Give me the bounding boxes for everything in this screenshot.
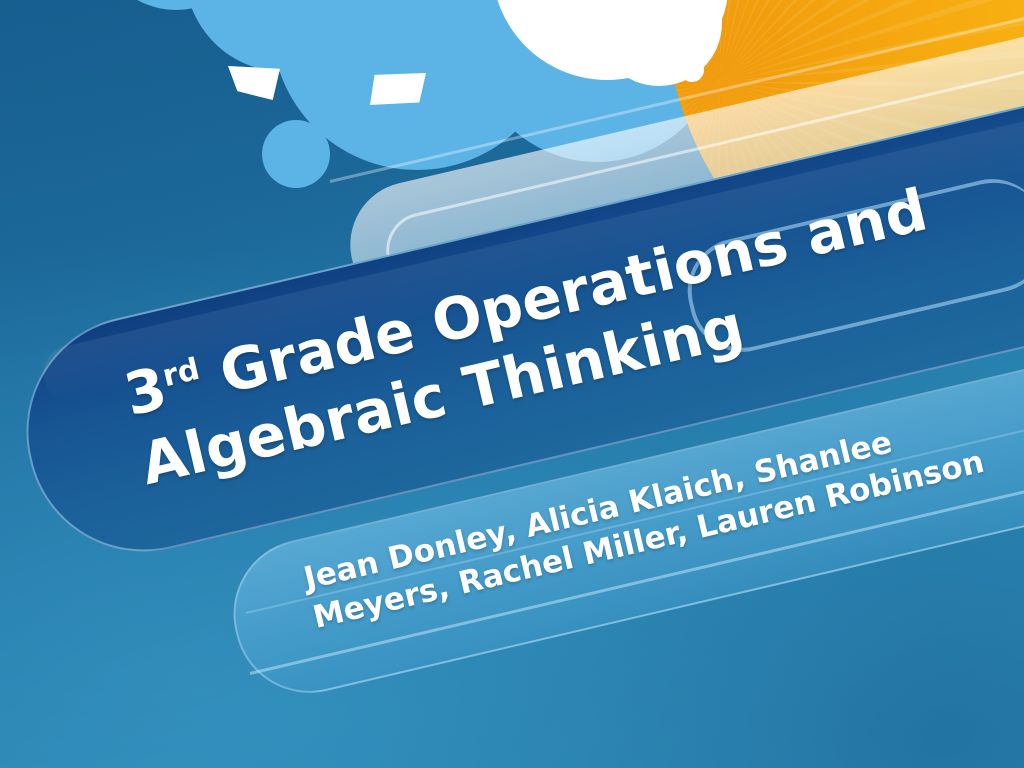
title-slide: 3rd Grade Operations and Algebraic Think… — [0, 0, 1024, 768]
text-layer: 3rd Grade Operations and Algebraic Think… — [0, 0, 1024, 768]
